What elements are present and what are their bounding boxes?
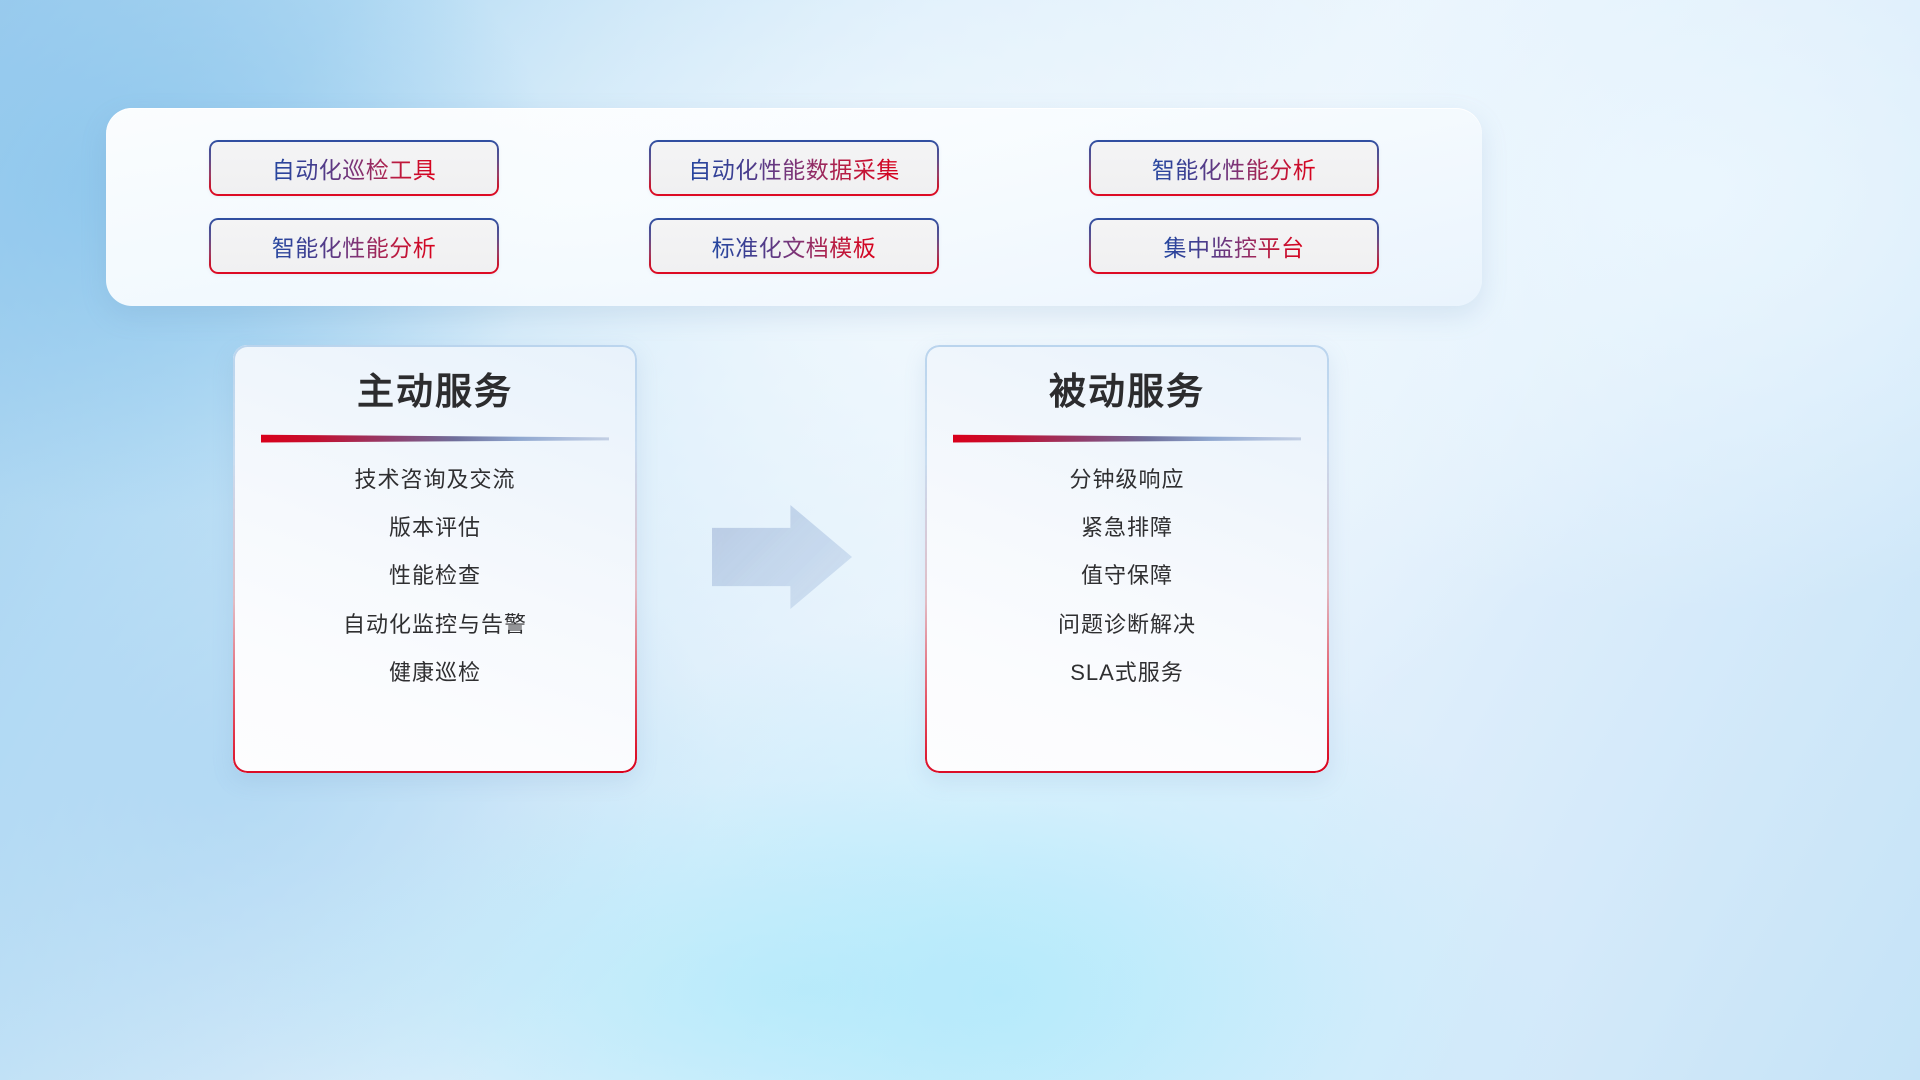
capability-pill-label: 自动化性能数据采集: [688, 151, 900, 185]
capability-pill-label: 集中监控平台: [1164, 229, 1305, 263]
card-body: 被动服务 分钟级响应 紧急排障 值守保障 问题诊断解决 SLA式服务: [925, 345, 1329, 773]
capability-row-2: 智能化性能分析 标准化文档模板 集中监控平台: [134, 218, 1454, 274]
capability-pill-intelligent-perf-analysis[interactable]: 智能化性能分析: [1089, 140, 1379, 196]
list-item: SLA式服务: [1070, 660, 1184, 686]
capability-pill-auto-inspection-tool[interactable]: 自动化巡检工具: [209, 140, 499, 196]
card-divider: [953, 433, 1301, 443]
list-item: 健康巡检: [389, 660, 481, 686]
list-item: 自动化监控与告警: [343, 612, 527, 638]
card-item-list: 技术咨询及交流 版本评估 性能检查 自动化监控与告警 健康巡检: [265, 467, 605, 687]
capability-pill-label: 智能化性能分析: [272, 229, 437, 263]
capability-pill-label: 智能化性能分析: [1152, 151, 1317, 185]
capability-pill-auto-perf-data-collection[interactable]: 自动化性能数据采集: [649, 140, 939, 196]
card-title: 被动服务: [1049, 371, 1205, 414]
capability-pill-standard-doc-template[interactable]: 标准化文档模板: [649, 218, 939, 274]
list-item: 技术咨询及交流: [354, 467, 515, 493]
list-item: 版本评估: [389, 515, 481, 541]
card-body: 主动服务 技术咨询及交流 版本评估 性能检查 自动化监控与告警 健康巡检: [233, 345, 637, 773]
capability-panel: 自动化巡检工具 自动化性能数据采集 智能化性能分析 智能化性能分析 标准化文档模…: [106, 108, 1482, 306]
capability-pill-central-monitoring-platform[interactable]: 集中监控平台: [1089, 218, 1379, 274]
list-item: 值守保障: [1081, 563, 1173, 589]
list-item: 紧急排障: [1081, 515, 1173, 541]
service-card-proactive: 主动服务 技术咨询及交流 版本评估 性能检查 自动化监控与告警 健康巡检: [233, 345, 637, 773]
slide-canvas: 自动化巡检工具 自动化性能数据采集 智能化性能分析 智能化性能分析 标准化文档模…: [0, 0, 1920, 1080]
capability-pill-label: 标准化文档模板: [712, 229, 877, 263]
card-divider: [261, 433, 609, 443]
arrow-right-icon: [712, 505, 852, 609]
service-card-reactive: 被动服务 分钟级响应 紧急排障 值守保障 问题诊断解决 SLA式服务: [925, 345, 1329, 773]
list-item: 性能检查: [389, 563, 481, 589]
capability-pill-intelligent-perf-analysis-2[interactable]: 智能化性能分析: [209, 218, 499, 274]
card-title: 主动服务: [357, 371, 513, 414]
card-item-list: 分钟级响应 紧急排障 值守保障 问题诊断解决 SLA式服务: [957, 467, 1297, 687]
capability-pill-label: 自动化巡检工具: [272, 151, 437, 185]
list-item: 问题诊断解决: [1058, 612, 1196, 638]
list-item: 分钟级响应: [1069, 467, 1184, 493]
capability-row-1: 自动化巡检工具 自动化性能数据采集 智能化性能分析: [134, 140, 1454, 196]
